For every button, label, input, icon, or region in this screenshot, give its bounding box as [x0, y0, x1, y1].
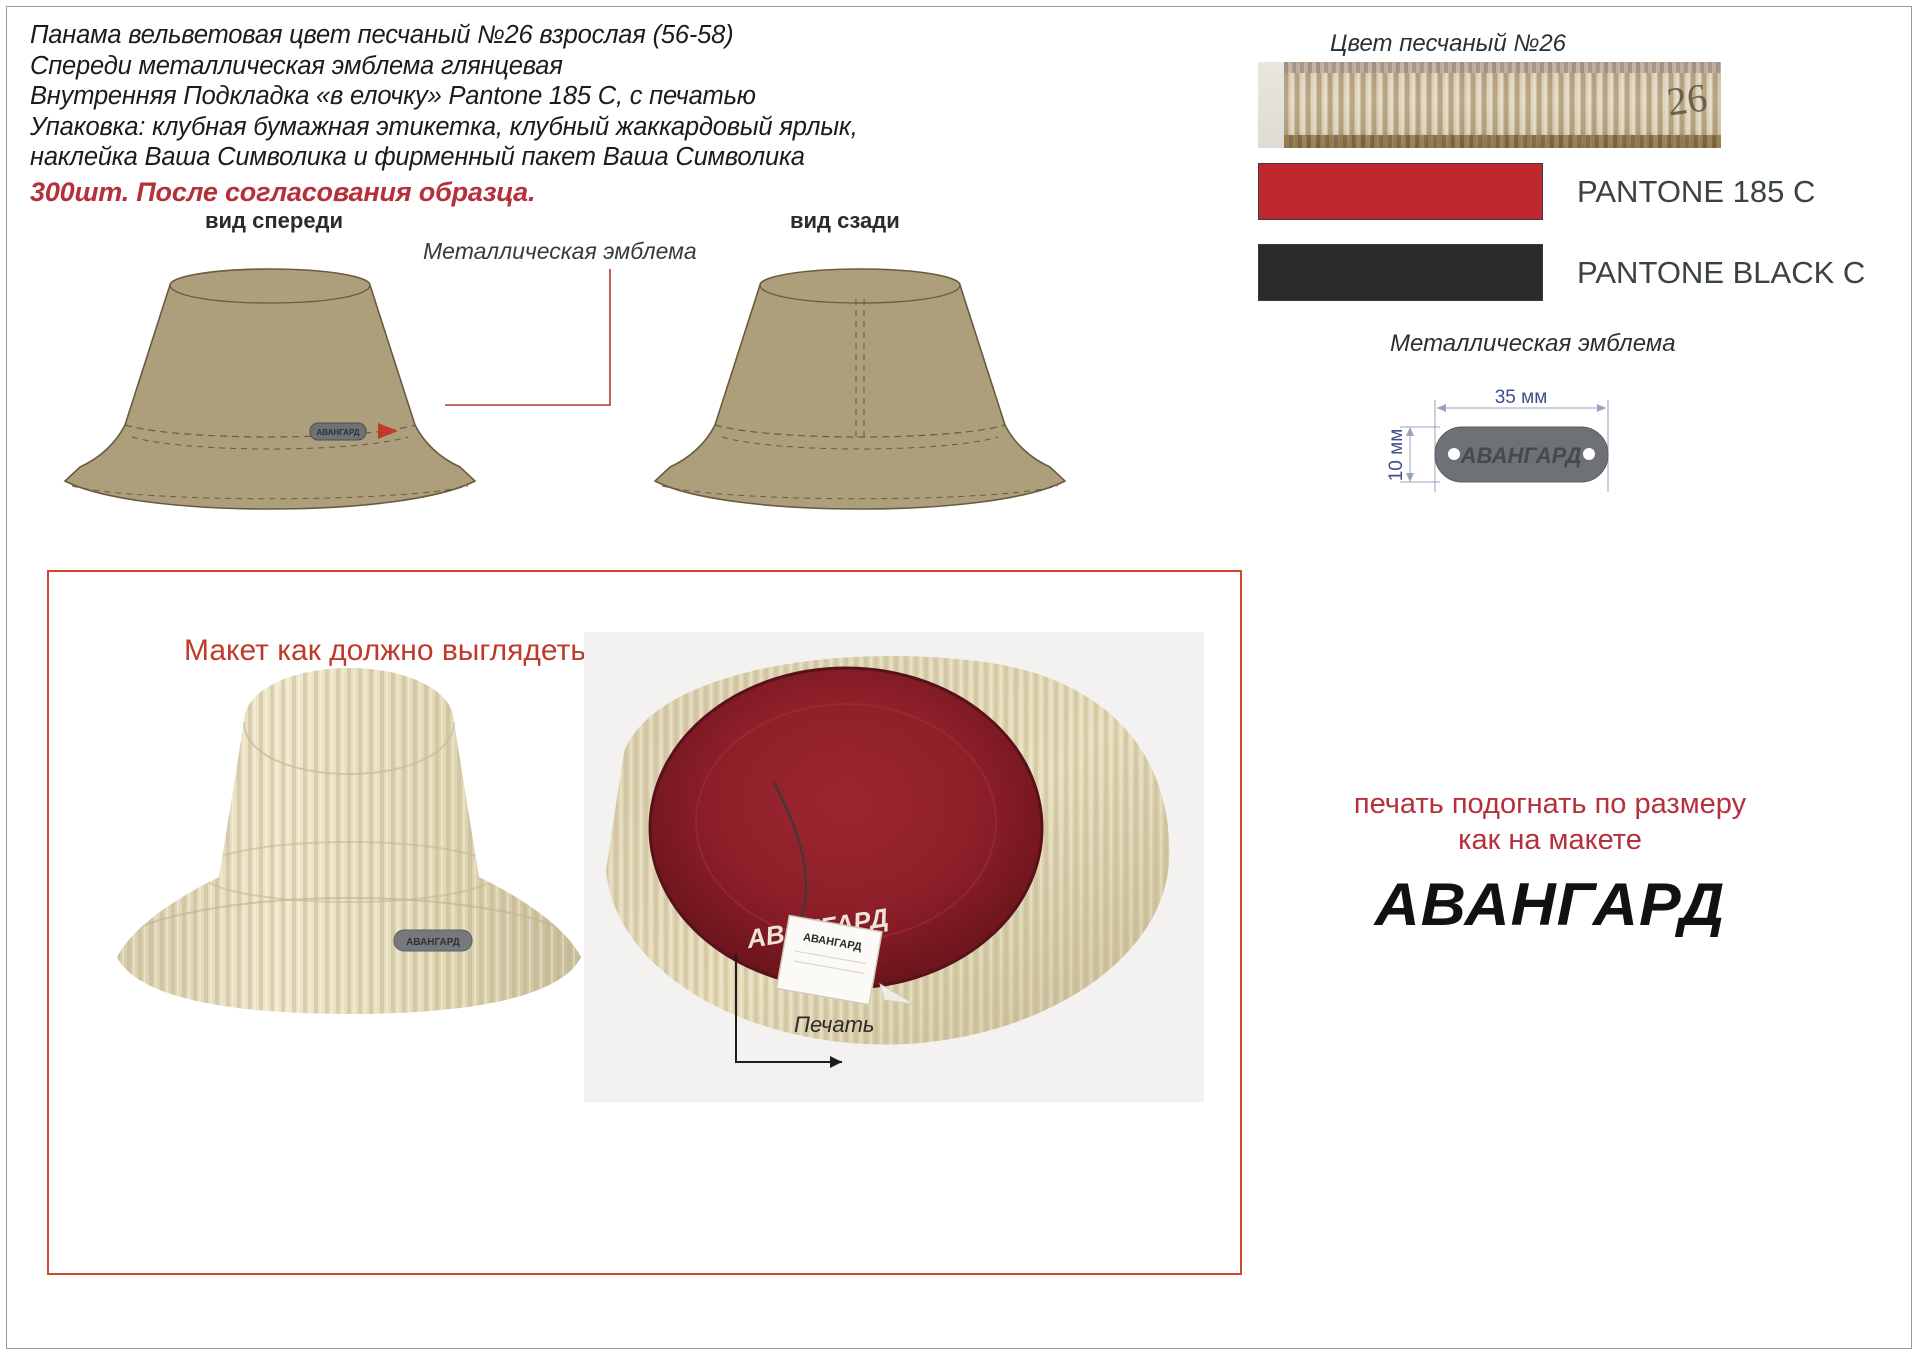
spec-line-5: наклейка Ваша Символика и фирменный паке… [30, 142, 1030, 173]
emblem-plate-text: АВАНГАРД [1460, 443, 1582, 468]
emblem-section-title: Металлическая эмблема [1390, 330, 1676, 358]
swatch-handwritten-number: 26 [1664, 73, 1710, 125]
fabric-swatch-title: Цвет песчаный №26 [1330, 30, 1566, 58]
swatch-paper-edge [1258, 62, 1284, 148]
emblem-height-label: 10 мм [1386, 429, 1407, 482]
print-note-line-2: как на макете [1270, 822, 1830, 858]
svg-text:АВАНГАРД: АВАНГАРД [406, 937, 460, 948]
emblem-dimension-drawing: 35 мм 10 мм АВАНГАРД [1380, 382, 1700, 517]
front-emblem-tag: АВАНГАРД [310, 423, 366, 440]
hat-front-view-drawing: АВАНГАРД [20, 255, 540, 555]
swatch-top-edge [1284, 62, 1721, 73]
swatch-bottom-edge [1284, 135, 1721, 148]
hat-photo-front: АВАНГАРД [94, 662, 604, 1092]
print-note-line-1: печать подогнать по размеру [1270, 786, 1830, 822]
hangtag: АВАНГАРД [777, 916, 882, 1005]
mockup-box: Макет как должно выглядеть [47, 570, 1242, 1275]
mockup-hat-emblem: АВАНГАРД [394, 930, 472, 951]
spec-line-4: Упаковка: клубная бумажная этикетка, клу… [30, 112, 1030, 143]
spec-line-2: Спереди металлическая эмблема глянцевая [30, 51, 1030, 82]
color-chip-pantone-185c [1258, 163, 1543, 220]
hat-back-view-drawing [610, 255, 1130, 555]
color-row-pantone-185c: PANTONE 185 C [1258, 163, 1815, 220]
front-view-label: вид спереди [205, 208, 343, 234]
print-callout-label: Печать [794, 1012, 874, 1038]
hat-photo-inside: АВАНГАРД АВАНГАРД [584, 632, 1204, 1102]
back-view-label: вид сзади [790, 208, 900, 234]
spec-line-3: Внутренняя Подкладка «в елочку» Pantone … [30, 81, 1030, 112]
brand-logo: АВАНГАРД [1259, 870, 1841, 939]
print-instruction-note: печать подогнать по размеру как на макет… [1270, 786, 1830, 858]
svg-text:АВАНГАРД: АВАНГАРД [316, 428, 359, 437]
fabric-swatch-image: 26 [1258, 62, 1721, 148]
color-name-pantone-black-c: PANTONE BLACK C [1577, 255, 1865, 291]
specification-text-block: Панама вельветовая цвет песчаный №26 взр… [30, 20, 1030, 211]
spec-line-1: Панама вельветовая цвет песчаный №26 взр… [30, 20, 1030, 51]
quantity-note: 300шт. После согласования образца. [30, 173, 1030, 211]
emblem-width-label: 35 мм [1495, 387, 1548, 408]
color-name-pantone-185c: PANTONE 185 C [1577, 174, 1815, 210]
color-chip-pantone-black-c [1258, 244, 1543, 301]
color-row-pantone-black-c: PANTONE BLACK C [1258, 244, 1865, 301]
